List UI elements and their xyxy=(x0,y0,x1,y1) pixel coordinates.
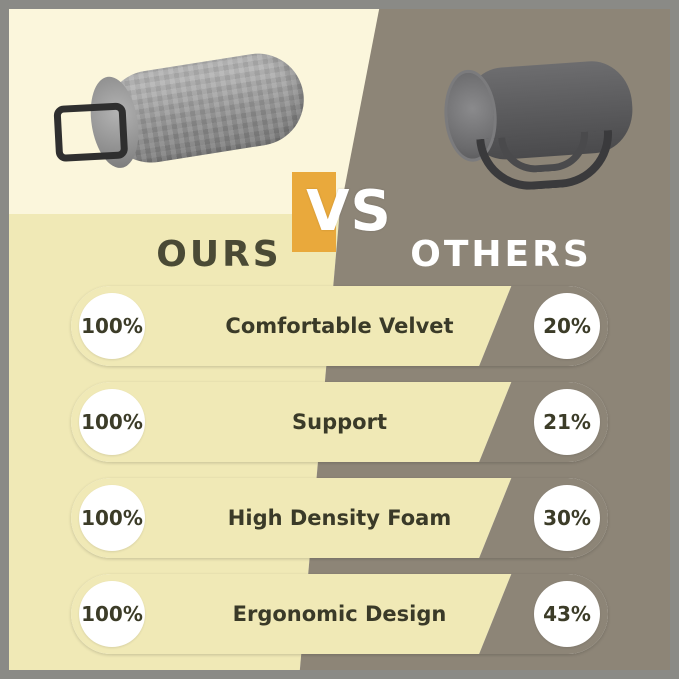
table-row: 100% High Density Foam 30% xyxy=(71,478,608,558)
table-row: 100% Comfortable Velvet 20% xyxy=(71,286,608,366)
comparison-panel: OURS OTHERS 100% Comfortable Velvet 20% … xyxy=(9,214,670,670)
feature-label: Ergonomic Design xyxy=(159,574,520,654)
vs-badge: VS xyxy=(284,172,414,252)
feature-label: Comfortable Velvet xyxy=(159,286,520,366)
others-value-bubble: 30% xyxy=(534,485,600,551)
feature-label: Support xyxy=(159,382,520,462)
others-value-bubble: 21% xyxy=(534,389,600,455)
table-row: 100% Ergonomic Design 43% xyxy=(71,574,608,654)
ours-value-bubble: 100% xyxy=(79,581,145,647)
others-product-image xyxy=(435,54,643,186)
ours-value-bubble: 100% xyxy=(79,485,145,551)
heading-ours: OURS xyxy=(129,232,309,278)
vs-label: VS xyxy=(284,174,414,250)
comparison-infographic: VS OURS OTHERS 100% Comfortable Velvet 2… xyxy=(0,0,679,679)
feature-label: High Density Foam xyxy=(159,478,520,558)
comparison-rows: 100% Comfortable Velvet 20% 100% Support… xyxy=(9,286,670,670)
others-value-bubble: 20% xyxy=(534,293,600,359)
others-value-bubble: 43% xyxy=(534,581,600,647)
ours-value-bubble: 100% xyxy=(79,389,145,455)
table-row: 100% Support 21% xyxy=(71,382,608,462)
heading-others: OTHERS xyxy=(391,232,611,278)
ours-carry-strap xyxy=(53,102,128,162)
ours-value-bubble: 100% xyxy=(79,293,145,359)
